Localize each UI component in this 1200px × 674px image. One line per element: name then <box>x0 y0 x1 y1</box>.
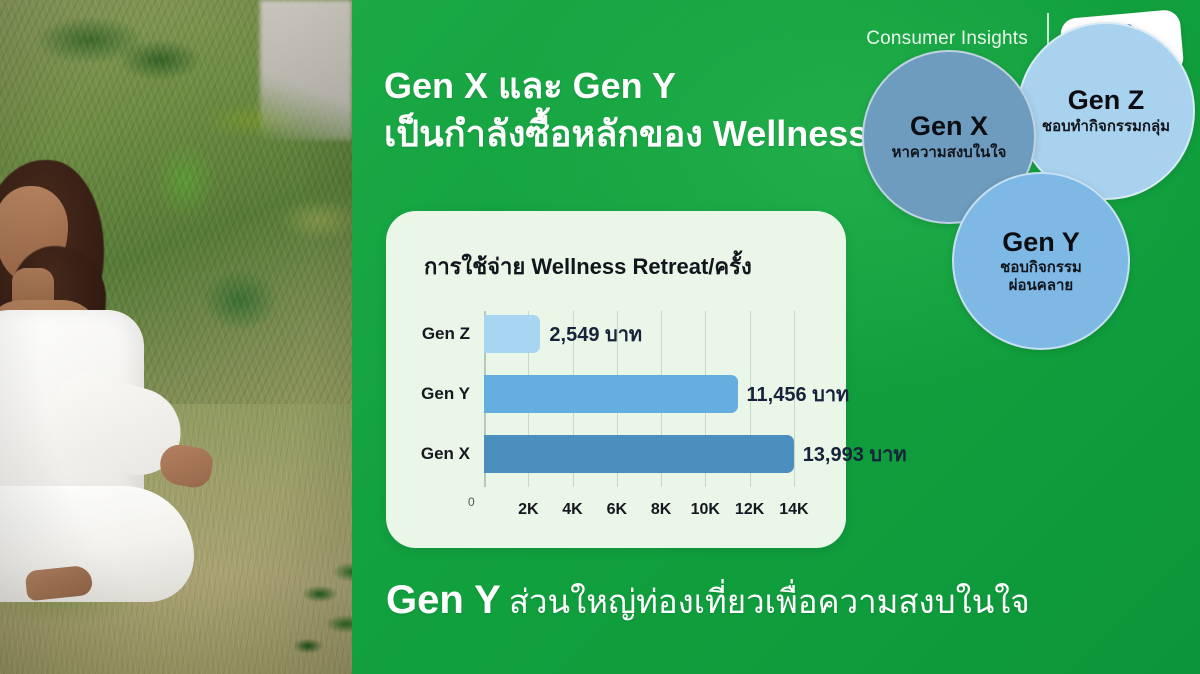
footer-text: ส่วนใหญ่ท่องเที่ยวเพื่อความสงบในใจ <box>509 583 1030 620</box>
chart-card: การใช้จ่าย Wellness Retreat/ครั้ง Gen Z … <box>386 211 846 548</box>
bar-gen-y: Gen Y 11,456 บาท <box>484 375 738 413</box>
green-content-panel: Consumer Insights ลอง gevity Gen X และ G… <box>352 0 1200 674</box>
meditation-photo <box>0 0 352 674</box>
bar-value-gen-z: 2,549 บาท <box>549 318 642 350</box>
xtick-8k: 8K <box>651 501 671 519</box>
bar-chart-plot: Gen Z 2,549 บาท Gen Y 11,456 บาท Gen X 1… <box>484 311 816 487</box>
xtick-4k: 4K <box>562 501 582 519</box>
bar-category-gen-x: Gen X <box>421 444 470 464</box>
persona-subtitle-gen-z: ชอบทำกิจกรรมกลุ่ม <box>1042 118 1170 136</box>
xtick-14k: 14K <box>779 501 808 519</box>
persona-title-gen-z: Gen Z <box>1068 86 1145 114</box>
infographic-canvas: Consumer Insights ลอง gevity Gen X และ G… <box>0 0 1200 674</box>
persona-title-gen-y: Gen Y <box>1002 228 1080 256</box>
footer-highlight: Gen Y <box>386 578 501 622</box>
xtick-12k: 12K <box>735 501 764 519</box>
persona-subtitle-gen-y-line2: ผ่อนคลาย <box>1000 277 1082 295</box>
persona-title-gen-x: Gen X <box>910 112 988 140</box>
chart-title: การใช้จ่าย Wellness Retreat/ครั้ง <box>424 249 752 284</box>
xtick-2k: 2K <box>518 501 538 519</box>
persona-subtitle-gen-x: หาความสงบในใจ <box>892 144 1007 162</box>
bar-value-gen-x: 13,993 บาท <box>803 438 907 470</box>
bar-value-gen-y: 11,456 บาท <box>747 378 850 410</box>
persona-subtitle-gen-y-line1: ชอบกิจกรรม <box>1000 259 1082 277</box>
bar-category-gen-z: Gen Z <box>422 324 470 344</box>
xtick-10k: 10K <box>691 501 720 519</box>
persona-subtitle-gen-y: ชอบกิจกรรม ผ่อนคลาย <box>1000 259 1082 294</box>
footer-statement: Gen Yส่วนใหญ่ท่องเที่ยวเพื่อความสงบในใจ <box>386 575 1186 628</box>
xtick-6k: 6K <box>607 501 627 519</box>
bar-category-gen-y: Gen Y <box>421 384 470 404</box>
bar-gen-z: Gen Z 2,549 บาท <box>484 315 540 353</box>
chart-x-axis-ticks: 2K 4K 6K 8K 10K 12K 14K <box>484 501 816 525</box>
bar-gen-x: Gen X 13,993 บาท <box>484 435 794 473</box>
headline-line-1: Gen X และ Gen Y <box>384 65 676 106</box>
photo-vignette <box>0 0 352 674</box>
kicker-label: Consumer Insights <box>866 28 1028 50</box>
persona-circle-gen-y: Gen Y ชอบกิจกรรม ผ่อนคลาย <box>952 172 1130 350</box>
axis-zero-label: 0 <box>468 495 475 509</box>
